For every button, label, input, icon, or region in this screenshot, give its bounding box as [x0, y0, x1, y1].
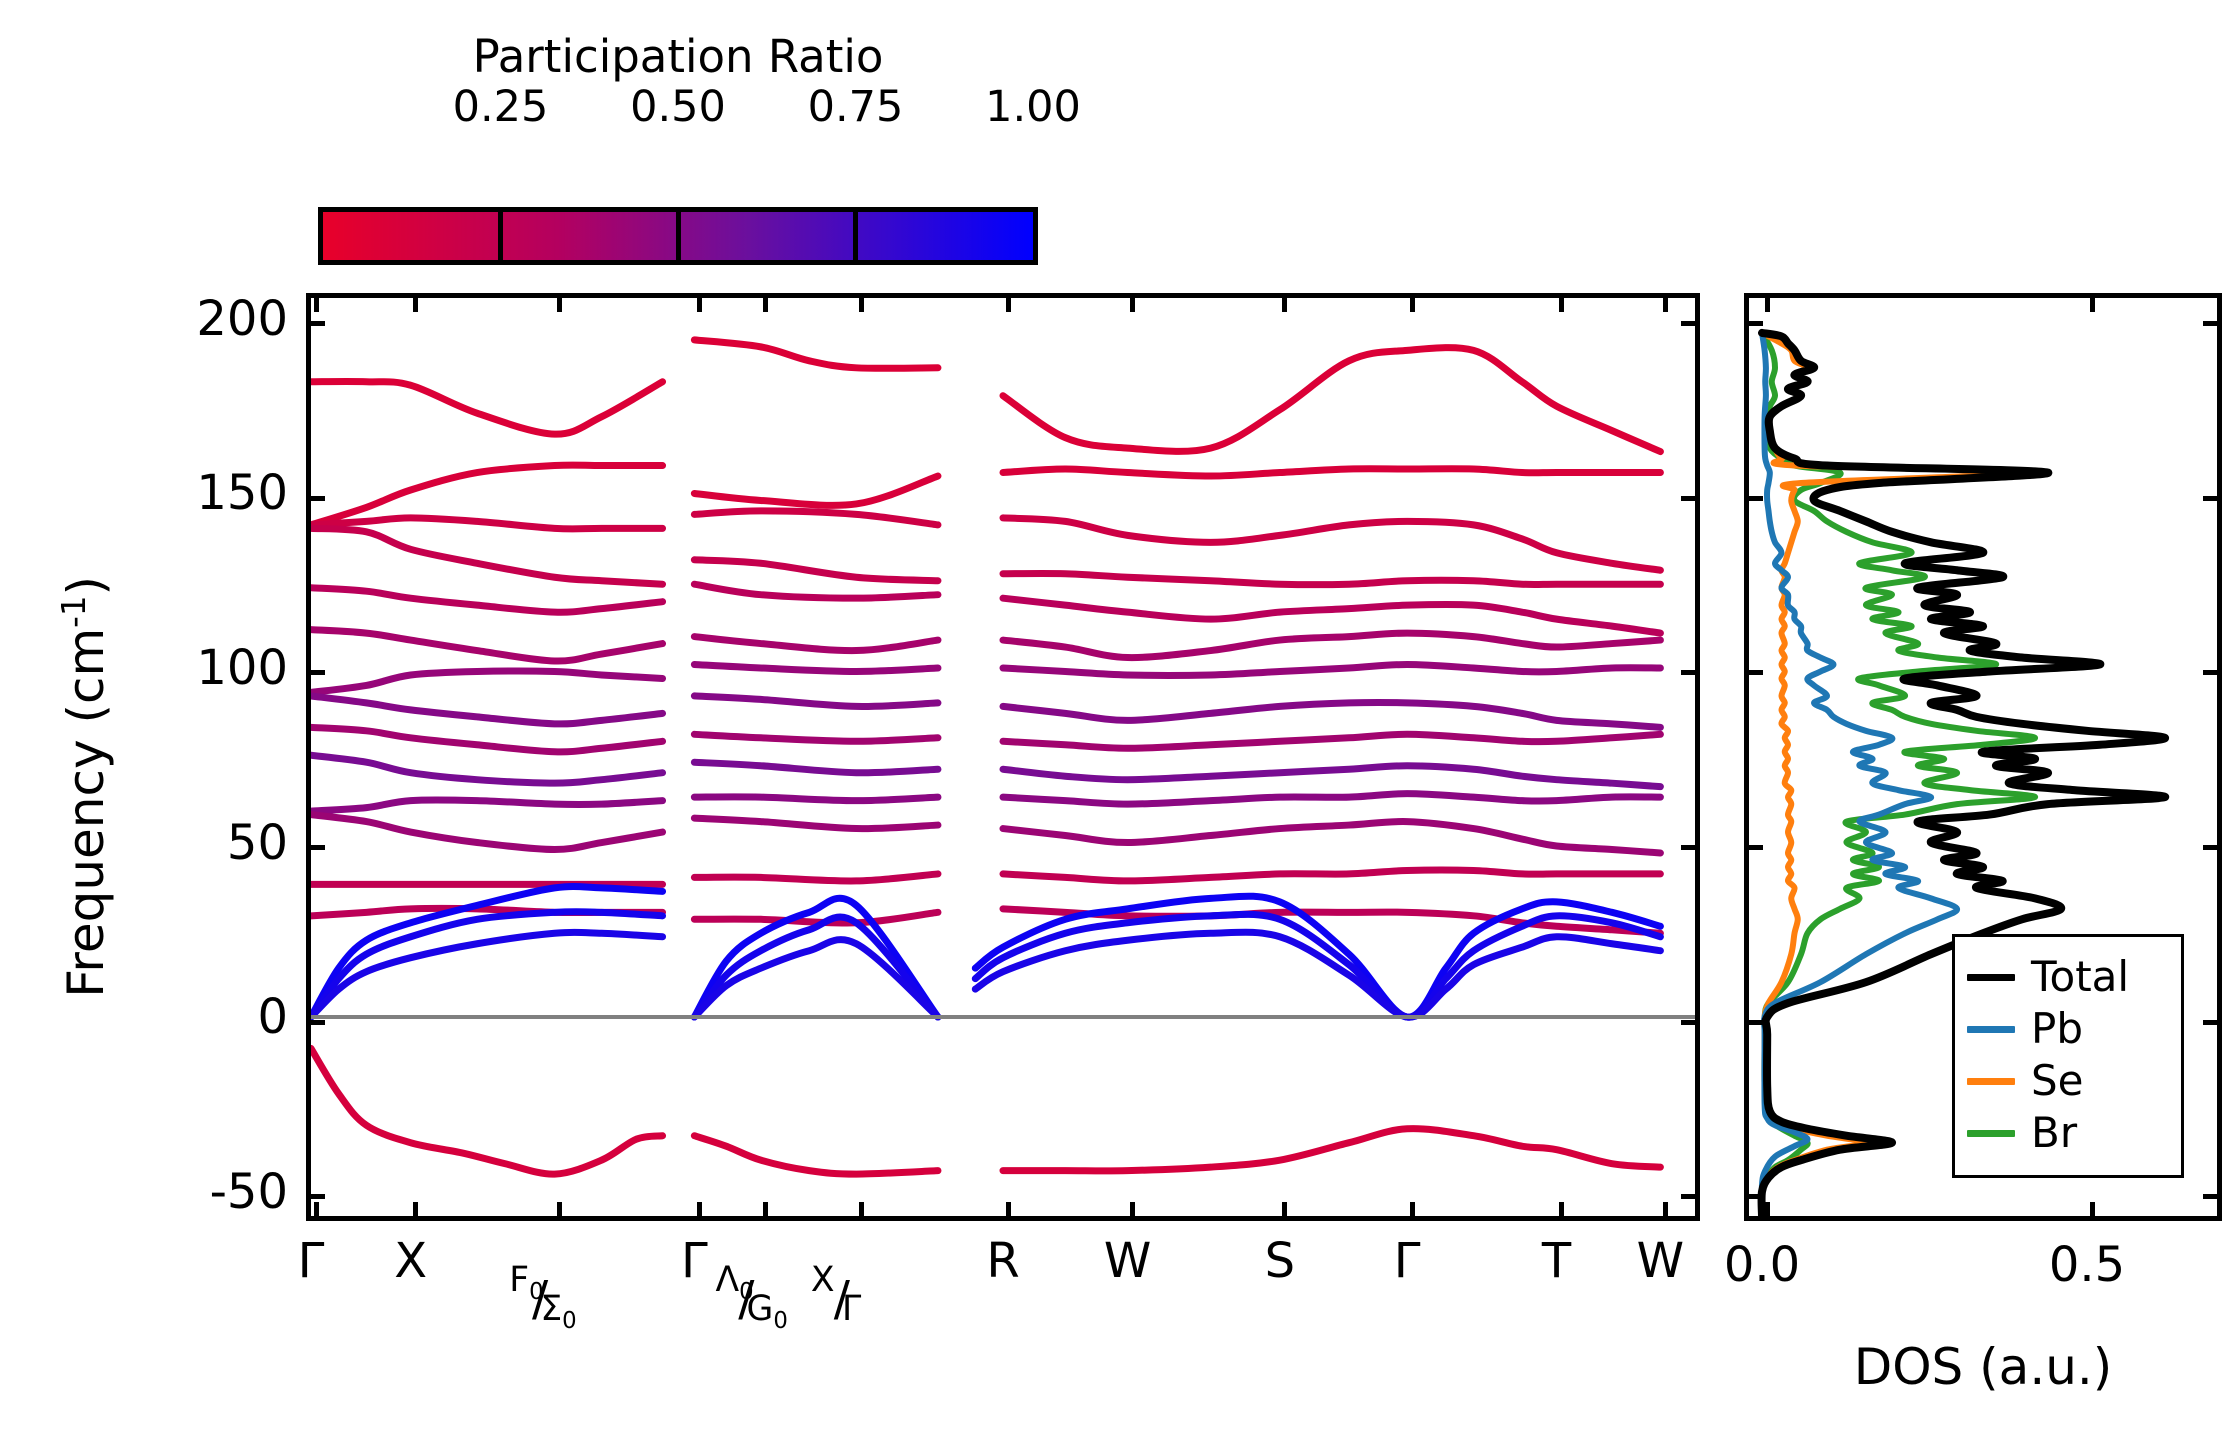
band-curve	[311, 755, 663, 783]
band-curve	[1003, 598, 1660, 633]
band-plot-area	[311, 298, 1695, 1216]
dos-x-tick-label-0-5: 0.5	[2049, 1237, 2125, 1293]
y-axis-title: Frequency (cm-1)	[55, 437, 115, 1137]
x-tick-mark	[1006, 298, 1011, 312]
colorbar-tick-1-00: 1.00	[985, 82, 1081, 132]
x-tick-labels-band: ΓXF0/Σ0ΓΛ0/G0X/ΓRWSΓTW	[0, 1237, 2234, 1347]
band-curves	[311, 298, 1695, 1216]
dos-x-tick-mark	[2090, 1202, 2095, 1216]
x-tick-mark	[557, 298, 562, 312]
y-tick-mark	[1749, 670, 1763, 675]
band-curve	[694, 560, 938, 581]
y-tick-label-150: 150	[196, 465, 288, 521]
legend-line-swatch	[1967, 1078, 2015, 1085]
legend-entry-se[interactable]: Se	[1967, 1055, 2169, 1107]
x-tick-label-W: W	[1104, 1237, 1151, 1285]
band-curve	[311, 815, 663, 850]
band-curve	[694, 511, 938, 525]
band-curve	[694, 665, 938, 672]
dos-legend: TotalPbSeBr	[1952, 934, 2184, 1178]
y-tick-mark	[311, 496, 325, 501]
x-tick-mark	[1282, 298, 1287, 312]
y-tick-mark	[1749, 496, 1763, 501]
x-tick-mark	[1559, 1202, 1564, 1216]
x-tick-label-S: S	[1265, 1237, 1295, 1285]
band-curve	[694, 1136, 938, 1174]
dos-x-tick-mark	[1765, 1202, 1770, 1216]
band-curve	[694, 476, 938, 505]
x-tick-label-: Γ	[298, 1237, 325, 1285]
legend-line-swatch	[1967, 1130, 2015, 1137]
x-tick-mark	[1663, 298, 1668, 312]
dos-x-tick-mark	[2090, 298, 2095, 312]
band-curve	[311, 1048, 663, 1174]
colorbar-tick-labels: 0.250.500.751.00	[318, 82, 1038, 140]
y-tick-mark	[1681, 845, 1695, 850]
legend-label: Total	[2031, 956, 2129, 998]
band-curve	[1003, 573, 1660, 584]
x-tick-label-T: T	[1542, 1237, 1571, 1285]
x-tick-labels-dos: 0.00.5	[0, 1237, 2234, 1307]
y-tick-label-100: 100	[196, 640, 288, 696]
colorbar-title: Participation Ratio	[318, 30, 1038, 83]
y-tick-label-neg50: -50	[210, 1164, 288, 1220]
y-tick-mark	[1681, 1020, 1695, 1025]
x-tick-mark	[697, 298, 702, 312]
band-curve	[311, 800, 663, 811]
y-tick-mark	[2203, 1194, 2217, 1199]
legend-line-swatch	[1967, 1026, 2015, 1033]
band-curve	[1003, 794, 1660, 804]
band-curve	[694, 797, 938, 801]
y-tick-mark	[1749, 1020, 1763, 1025]
dos-x-tick-mark	[1765, 298, 1770, 312]
x-tick-label-: Γ	[681, 1237, 708, 1285]
y-tick-mark	[2203, 670, 2217, 675]
x-tick-label-F00: F0/Σ0	[520, 1237, 590, 1285]
x-tick-mark	[1006, 1202, 1011, 1216]
legend-label: Br	[2031, 1112, 2077, 1154]
y-tick-mark	[1749, 1194, 1763, 1199]
band-curve	[694, 734, 938, 741]
band-curve	[1003, 665, 1660, 676]
legend-line-swatch	[1967, 974, 2015, 981]
x-tick-mark	[1410, 1202, 1415, 1216]
band-curve	[694, 912, 938, 923]
x-tick-mark	[557, 1202, 562, 1216]
band-curve	[1003, 734, 1660, 748]
legend-entry-total[interactable]: Total	[1967, 951, 2169, 1003]
x-tick-mark	[859, 1202, 864, 1216]
y-tick-label-50: 50	[227, 815, 288, 871]
band-curve	[311, 465, 663, 525]
y-tick-mark	[311, 670, 325, 675]
x-tick-label-W: W	[1637, 1237, 1684, 1285]
band-curve	[311, 382, 663, 435]
colorbar	[318, 207, 1038, 265]
band-curve	[311, 727, 663, 752]
band-structure-axes	[306, 293, 1700, 1221]
band-curve	[1003, 1129, 1660, 1171]
x-tick-label-0G0: Λ0/G0	[726, 1237, 796, 1285]
y-tick-mark	[2203, 496, 2217, 501]
band-curve	[1003, 469, 1660, 476]
x-tick-mark	[1410, 298, 1415, 312]
band-curve	[1003, 518, 1660, 570]
band-curve	[1003, 633, 1660, 657]
band-curve	[694, 762, 938, 773]
x-tick-mark	[1663, 1202, 1668, 1216]
legend-entry-pb[interactable]: Pb	[1967, 1003, 2169, 1055]
x-tick-mark	[1559, 298, 1564, 312]
x-tick-mark	[763, 298, 768, 312]
band-curve	[311, 671, 663, 692]
legend-label: Pb	[2031, 1008, 2083, 1050]
y-tick-mark	[2203, 321, 2217, 326]
zero-frequency-line	[311, 1015, 1695, 1019]
y-tick-mark	[1681, 496, 1695, 501]
y-axis-title-tail: )	[57, 576, 115, 596]
band-curve	[311, 518, 663, 529]
colorbar-tick-0-50: 0.50	[630, 82, 726, 132]
band-curve	[694, 340, 938, 368]
y-tick-mark	[311, 321, 325, 326]
y-tick-mark	[1681, 321, 1695, 326]
band-curve	[694, 584, 938, 598]
y-tick-label-200: 200	[196, 291, 288, 347]
band-curve	[311, 588, 663, 613]
band-curve	[694, 874, 938, 881]
x-tick-mark	[763, 1202, 768, 1216]
y-tick-mark	[1749, 845, 1763, 850]
y-tick-mark	[311, 1020, 325, 1025]
dos-x-tick-label-0-0: 0.0	[1724, 1237, 1800, 1293]
legend-label: Se	[2031, 1060, 2084, 1102]
band-curve	[694, 917, 938, 1017]
y-tick-mark	[311, 1194, 325, 1199]
phonon-figure: Participation Ratio 0.250.500.751.00 Fre…	[0, 0, 2234, 1455]
band-curve	[311, 528, 663, 584]
y-tick-mark	[2203, 1020, 2217, 1025]
x-tick-mark	[697, 1202, 702, 1216]
x-tick-label-X: X	[394, 1237, 427, 1285]
band-curve	[694, 696, 938, 707]
y-tick-mark	[1681, 670, 1695, 675]
colorbar-tick-0-25: 0.25	[453, 82, 549, 132]
band-curve	[694, 818, 938, 829]
y-tick-mark	[311, 845, 325, 850]
y-tick-label-0: 0	[257, 989, 288, 1045]
colorbar-tick-mark	[853, 212, 858, 260]
dos-axis-title: DOS (a.u.)	[1744, 1338, 2222, 1396]
band-curve	[311, 696, 663, 724]
colorbar-tick-0-75: 0.75	[808, 82, 904, 132]
band-curve	[1003, 870, 1660, 881]
band-curve	[1003, 821, 1660, 852]
x-tick-mark	[413, 298, 418, 312]
band-curve	[311, 912, 663, 1017]
band-curve	[1003, 766, 1660, 787]
x-tick-mark	[314, 1202, 319, 1216]
y-axis-title-exponent: -1	[55, 595, 93, 627]
x-tick-mark	[1130, 298, 1135, 312]
x-tick-mark	[859, 298, 864, 312]
y-axis-title-text: Frequency (cm	[57, 628, 115, 998]
colorbar-tick-mark	[498, 212, 503, 260]
x-tick-mark	[413, 1202, 418, 1216]
band-curve	[311, 630, 663, 661]
x-tick-mark	[1130, 1202, 1135, 1216]
y-tick-mark	[2203, 845, 2217, 850]
x-tick-label-: Γ	[1394, 1237, 1421, 1285]
band-curve	[1003, 348, 1660, 452]
y-tick-mark	[1681, 1194, 1695, 1199]
legend-entry-br[interactable]: Br	[1967, 1107, 2169, 1159]
x-tick-label-X: X/Γ	[821, 1237, 891, 1285]
band-curve	[694, 637, 938, 651]
y-tick-mark	[1749, 321, 1763, 326]
x-tick-label-R: R	[986, 1237, 1019, 1285]
x-tick-mark	[314, 298, 319, 312]
colorbar-tick-mark	[676, 212, 681, 260]
x-tick-mark	[1282, 1202, 1287, 1216]
band-curve	[1003, 702, 1660, 727]
